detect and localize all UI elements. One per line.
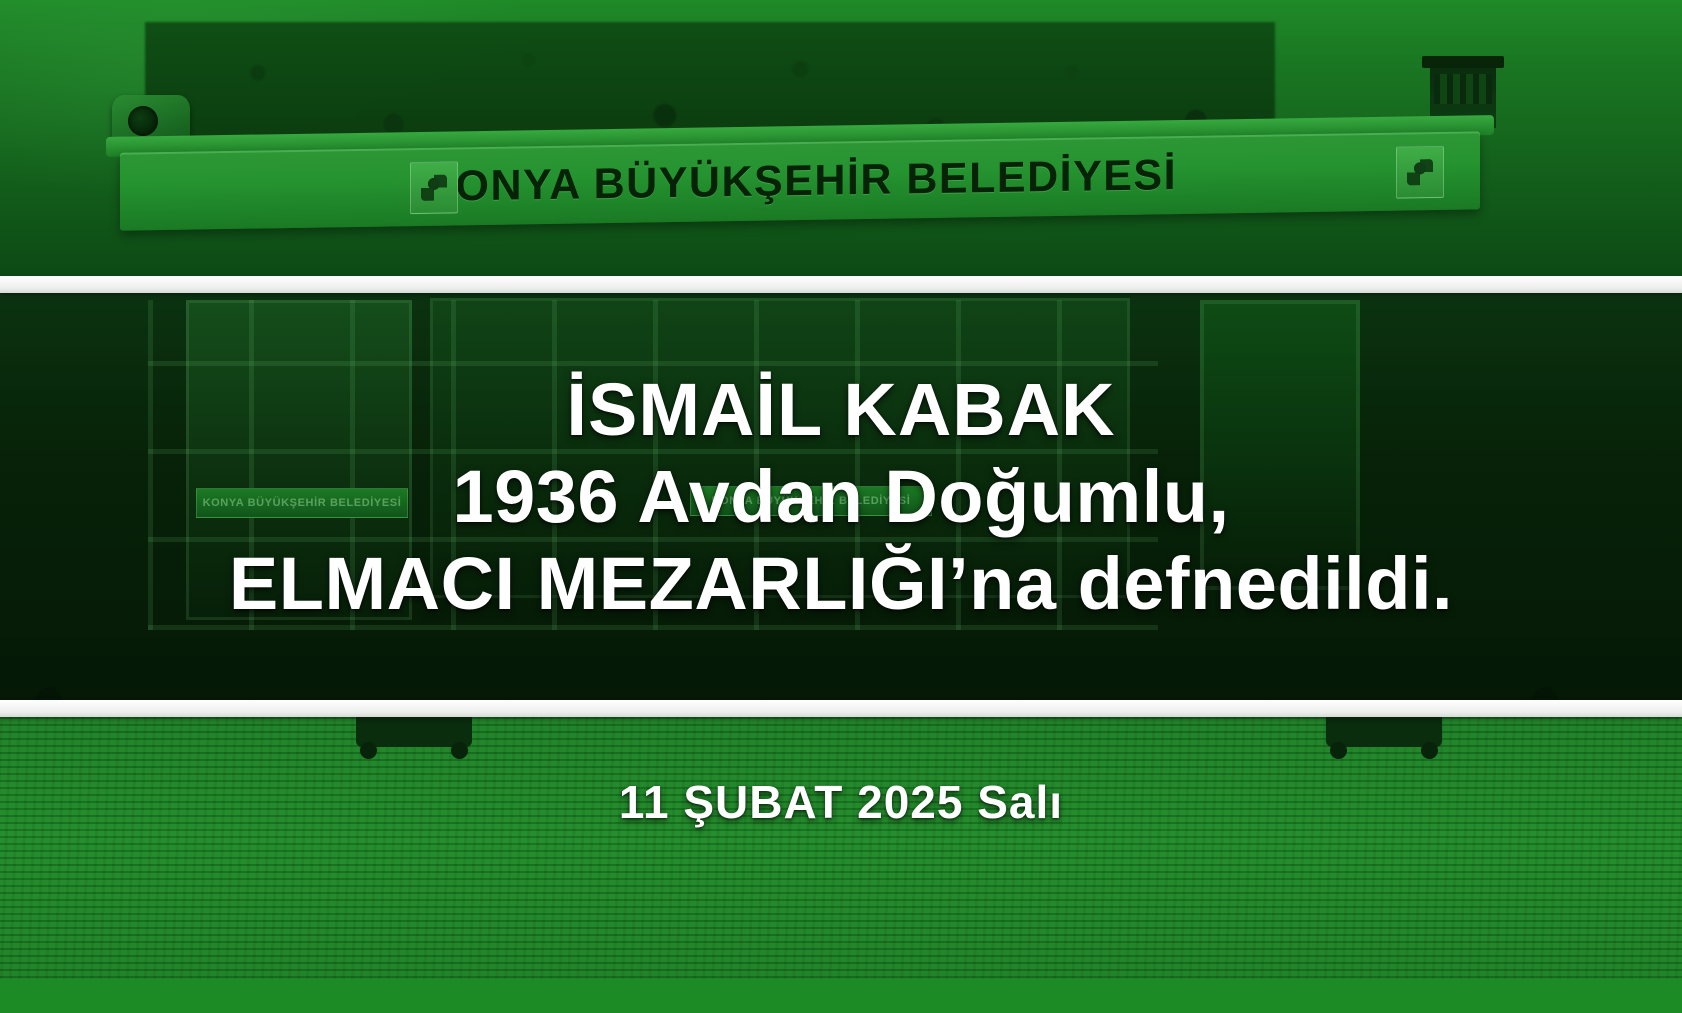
interior-signboard: KONYA BÜYÜKŞEHİR BELEDİYESİ [690, 486, 932, 516]
interior-signboard: KONYA BÜYÜKŞEHİR BELEDİYESİ [196, 488, 408, 518]
municipality-crest-icon [1396, 146, 1444, 199]
funeral-announcement-poster: KONYA BÜYÜKŞEHİR BELEDİYESİ KONYA BÜYÜKŞ… [0, 0, 1682, 1013]
coffin-trolley [356, 717, 472, 747]
burial-date: 11 ŞUBAT 2025 Salı [0, 775, 1682, 829]
municipality-crest-icon [410, 161, 458, 214]
coffin-trolley [1326, 717, 1442, 747]
divider-bottom [0, 700, 1682, 717]
window-lattice [148, 300, 1158, 630]
background-photo: KONYA BÜYÜKŞEHİR BELEDİYESİ KONYA BÜYÜKŞ… [0, 0, 1682, 1013]
divider-top [0, 276, 1682, 293]
entrance-doorway [1200, 300, 1360, 590]
ground-carpet-edge [0, 979, 1682, 1013]
awning-fascia: KONYA BÜYÜKŞEHİR BELEDİYESİ [120, 97, 1480, 246]
